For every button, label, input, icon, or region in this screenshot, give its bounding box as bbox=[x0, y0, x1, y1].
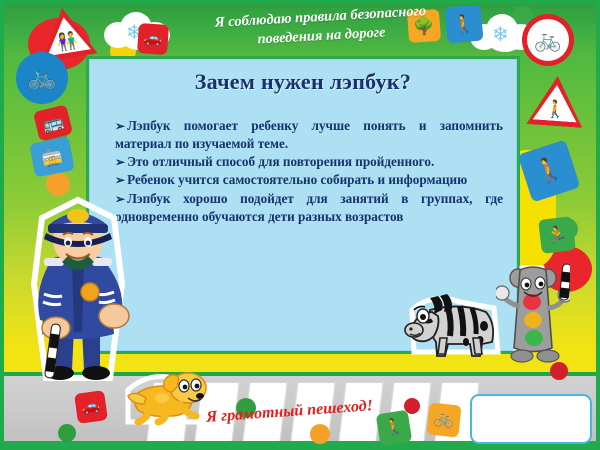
bicycle-lane-sign[interactable]: 🚲 bbox=[16, 52, 68, 104]
running-child-sign[interactable]: 🏃 bbox=[538, 216, 576, 254]
zebra-character bbox=[396, 286, 506, 358]
list-item-text: Лэпбук хорошо подойдет для занятий в гру… bbox=[115, 191, 503, 224]
running-icon: 🏃 bbox=[545, 225, 568, 244]
list-item: ➢Это отличный способ для повторения прой… bbox=[115, 153, 503, 171]
list-item: ➢Лэпбук хорошо подойдет для занятий в гр… bbox=[115, 190, 503, 225]
bicycle-sign-bottom[interactable]: 🚲 bbox=[426, 402, 461, 437]
list-item-text: Это отличный способ для повторения пройд… bbox=[127, 154, 434, 169]
green-ball-road bbox=[58, 424, 76, 442]
bullet-marker: ➢ bbox=[115, 173, 125, 187]
pedestrian-icon: 🚶 bbox=[531, 155, 567, 187]
pedestrian-warning-sign[interactable]: 🚶 bbox=[526, 74, 585, 128]
bus-icon: 🚌 bbox=[41, 112, 66, 134]
car-icon: 🚗 bbox=[81, 398, 102, 415]
traffic-light-character bbox=[496, 262, 570, 372]
car-icon: 🚗 bbox=[143, 31, 163, 47]
bicycle-icon: 🚲 bbox=[27, 66, 57, 90]
no-bicycles-sign[interactable]: 🚲 bbox=[522, 14, 574, 66]
car-sign[interactable]: 🚗 bbox=[137, 23, 169, 55]
list-item-text: Лэпбук помогает ребенку лучше понять и з… bbox=[115, 118, 503, 151]
pedestrian-icon: 🚶 bbox=[452, 14, 476, 34]
page-title: Зачем нужен лэпбук? bbox=[89, 69, 517, 95]
poster-page: ❄ ❄ 👫 🚲 🚌 🚋 🚗 🚗 🌳 🚶 🚲 🚶 bbox=[0, 0, 600, 450]
traffic-policeman bbox=[18, 188, 138, 388]
list-item: ➢Ребенок учится самостоятельно собирать … bbox=[115, 171, 503, 189]
pedestrian-crossing-sign[interactable]: 🚶 bbox=[444, 4, 483, 43]
list-item: ➢Лэпбук помогает ребенку лучше понять и … bbox=[115, 117, 503, 152]
tram-icon: 🚋 bbox=[40, 147, 64, 168]
no-car-sign[interactable]: 🚗 bbox=[74, 390, 108, 424]
bullet-marker: ➢ bbox=[115, 119, 125, 133]
bullet-list: ➢Лэпбук помогает ребенку лучше понять и … bbox=[115, 117, 503, 225]
bicycle-icon: 🚲 bbox=[534, 29, 561, 51]
bullet-marker: ➢ bbox=[115, 155, 125, 169]
list-item-text: Ребенок учится самостоятельно собирать и… bbox=[127, 172, 467, 187]
bicycle-icon: 🚲 bbox=[433, 411, 454, 429]
blank-note-card[interactable] bbox=[470, 394, 592, 444]
